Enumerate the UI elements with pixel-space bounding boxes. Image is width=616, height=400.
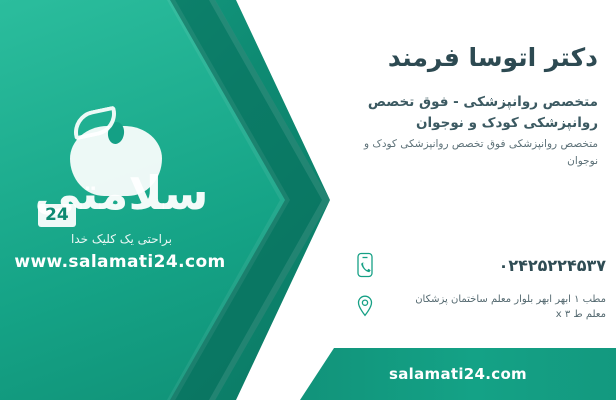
logo-badge-24: 24: [38, 204, 76, 227]
doctor-name: دکتر اتوسا فرمند: [348, 42, 598, 73]
brand-website-url[interactable]: www.salamati24.com: [10, 252, 230, 272]
phone-icon: [348, 248, 382, 282]
left-brand-panel: سلامتی 24 براحتی یک کلیک خدا www.salamat…: [0, 0, 330, 400]
location-pin-icon: [348, 290, 382, 324]
footer-website[interactable]: salamati24.com: [389, 365, 527, 383]
business-card: سلامتی 24 براحتی یک کلیک خدا www.salamat…: [0, 0, 616, 400]
phone-row[interactable]: ۰۲۴۲۵۲۲۴۵۳۷: [348, 248, 606, 282]
card-details: دکتر اتوسا فرمند متخصص روانپزشکی - فوق ت…: [340, 0, 616, 400]
address-row[interactable]: مطب ۱ ابهر ابهر بلوار معلم ساختمان پزشکا…: [348, 290, 606, 324]
brand-logo: سلامتی 24 براحتی یک کلیک خدا: [14, 108, 229, 238]
specialty-secondary: متخصص روانپزشکی فوق تخصص روانپزشکی کودک …: [348, 136, 598, 170]
footer-bar: salamati24.com: [300, 348, 616, 400]
phone-number: ۰۲۴۲۵۲۲۴۵۳۷: [382, 256, 606, 275]
logo-slogan: براحتی یک کلیک خدا: [14, 232, 229, 246]
clinic-address: مطب ۱ ابهر ابهر بلوار معلم ساختمان پزشکا…: [382, 292, 606, 322]
specialty-primary: متخصص روانپزشکی - فوق تخصص روانپزشکی کود…: [348, 92, 598, 134]
